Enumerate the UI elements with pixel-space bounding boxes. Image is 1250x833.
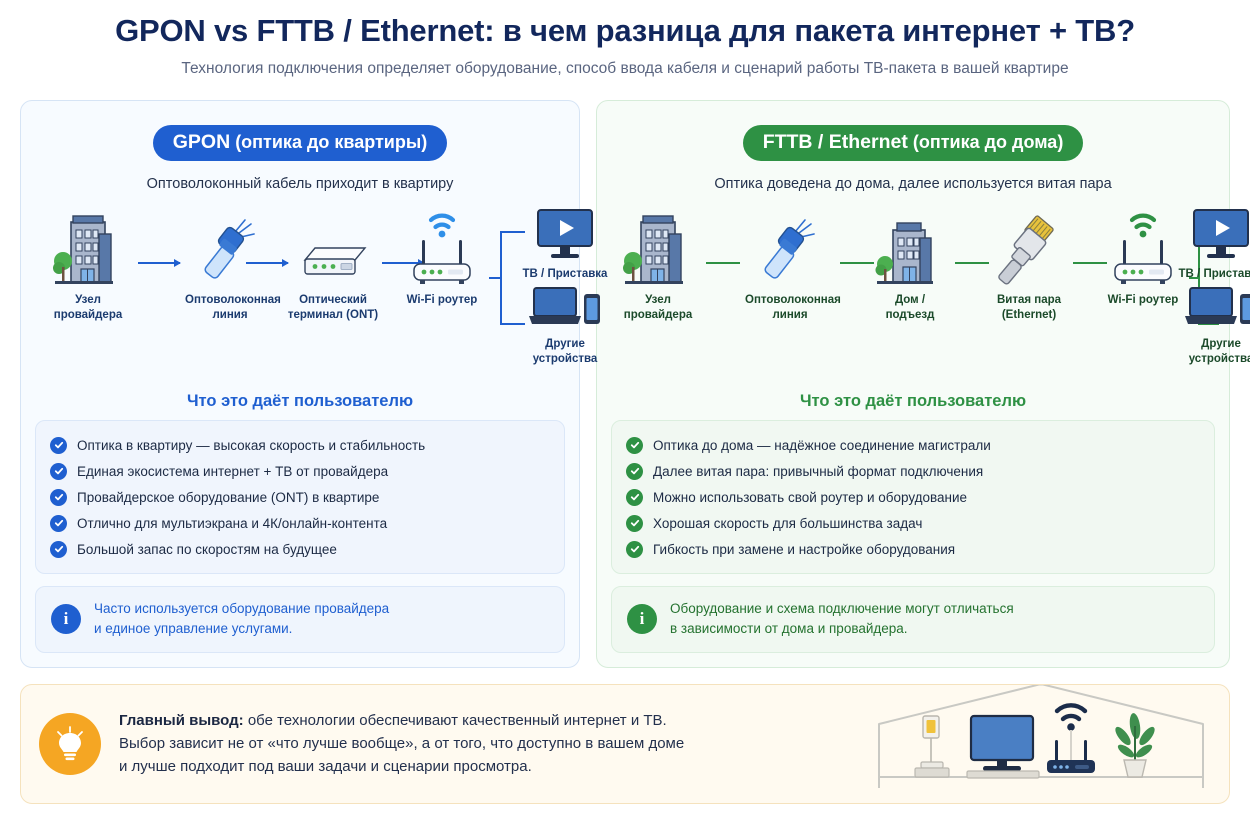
house-interior-icon bbox=[871, 684, 1211, 797]
list-item-label: Гибкость при замене и настройке оборудов… bbox=[653, 542, 955, 557]
list-item-label: Большой запас по скоростям на будущее bbox=[77, 542, 337, 557]
fttb-node-house-label: Дом / подъезд bbox=[867, 293, 953, 322]
fttb-node-house: Дом / подъезд bbox=[867, 210, 953, 322]
ont-terminal-icon bbox=[287, 210, 379, 288]
check-icon bbox=[626, 437, 643, 454]
check-icon bbox=[626, 541, 643, 558]
gpon-subtitle: Оптоволоконный кабель приходит в квартир… bbox=[35, 176, 565, 192]
comparison-columns: GPON (оптика до квартиры) Оптоволоконный… bbox=[0, 78, 1250, 668]
office-building-icon bbox=[615, 210, 701, 288]
gpon-node-router-label: Wi-Fi роутер bbox=[392, 293, 492, 308]
gpon-panel: GPON (оптика до квартиры) Оптоволоконный… bbox=[20, 100, 580, 668]
gpon-flow-diagram: Узел провайдера bbox=[35, 206, 565, 384]
list-item: Провайдерское оборудование (ONT) в кварт… bbox=[50, 484, 550, 510]
list-item: Оптика в квартиру — высокая скорость и с… bbox=[50, 432, 550, 458]
list-item-label: Единая экосистема интернет + ТВ от прова… bbox=[77, 464, 388, 479]
gpon-endpoint-tv-label: ТВ / Приставка bbox=[519, 267, 611, 282]
laptop-phone-icon bbox=[1171, 282, 1250, 334]
wifi-router-icon bbox=[392, 206, 492, 288]
check-icon bbox=[50, 489, 67, 506]
info-icon: i bbox=[51, 604, 81, 634]
conclusion-line-2: Выбор зависит не от «что лучше вообще», … bbox=[119, 732, 684, 755]
fttb-benefits-list: Оптика до дома — надёжное соединение маг… bbox=[611, 420, 1215, 574]
gpon-benefits-list: Оптика в квартиру — высокая скорость и с… bbox=[35, 420, 565, 574]
conclusion-text: Главный вывод: обе технологии обеспечива… bbox=[119, 709, 684, 779]
list-item-label: Провайдерское оборудование (ONT) в кварт… bbox=[77, 490, 379, 505]
gpon-benefits-title: Что это даёт пользователю bbox=[35, 392, 565, 411]
page-title: GPON vs FTTB / Ethernet: в чем разница д… bbox=[0, 14, 1250, 49]
conclusion-lead: Главный вывод: bbox=[119, 712, 244, 729]
list-item: Оптика до дома — надёжное соединение маг… bbox=[626, 432, 1200, 458]
list-item: Гибкость при замене и настройке оборудов… bbox=[626, 536, 1200, 562]
list-item: Отлично для мультиэкрана и 4К/онлайн-кон… bbox=[50, 510, 550, 536]
check-icon bbox=[50, 437, 67, 454]
list-item-label: Отлично для мультиэкрана и 4К/онлайн-кон… bbox=[77, 516, 387, 531]
check-icon bbox=[50, 541, 67, 558]
fttb-node-twisted-pair: Витая пара (Ethernet) bbox=[985, 210, 1073, 322]
list-item-label: Оптика в квартиру — высокая скорость и с… bbox=[77, 438, 425, 453]
fttb-node-provider-label: Узел провайдера bbox=[615, 293, 701, 322]
gpon-node-fiber-label: Оптоволоконная линия bbox=[185, 293, 275, 322]
check-icon bbox=[626, 515, 643, 532]
gpon-connector-1 bbox=[138, 262, 180, 264]
gpon-endpoint-devices-label: Другие устройства bbox=[519, 337, 611, 366]
fttb-node-fiber: Оптоволоконная линия bbox=[745, 210, 835, 322]
infographic-page: GPON vs FTTB / Ethernet: в чем разница д… bbox=[0, 0, 1250, 833]
gpon-badge: GPON (оптика до квартиры) bbox=[153, 125, 447, 162]
fttb-badge-strong: FTTB / Ethernet bbox=[763, 131, 908, 153]
list-item-label: Далее витая пара: привычный формат подкл… bbox=[653, 464, 983, 479]
lightbulb-icon bbox=[39, 713, 101, 775]
list-item: Единая экосистема интернет + ТВ от прова… bbox=[50, 458, 550, 484]
fttb-endpoint-tv-label: ТВ / Приставка bbox=[1171, 267, 1250, 282]
list-item: Далее витая пара: привычный формат подкл… bbox=[626, 458, 1200, 484]
conclusion-line-1: Главный вывод: обе технологии обеспечива… bbox=[119, 709, 684, 732]
check-icon bbox=[50, 515, 67, 532]
list-item-label: Хорошая скорость для большинства задач bbox=[653, 516, 922, 531]
fttb-badge: FTTB / Ethernet (оптика до дома) bbox=[743, 125, 1084, 162]
gpon-connector-2 bbox=[246, 262, 288, 264]
gpon-node-ont: Оптический терминал (ONT) bbox=[287, 210, 379, 322]
page-header: GPON vs FTTB / Ethernet: в чем разница д… bbox=[0, 0, 1250, 78]
rj45-connector-icon bbox=[985, 210, 1073, 288]
page-subtitle: Технология подключения определяет оборуд… bbox=[0, 60, 1250, 78]
gpon-endpoint-tv: ТВ / Приставка bbox=[519, 206, 611, 282]
gpon-badge-strong: GPON bbox=[173, 131, 230, 153]
conclusion-line-3: и лучше подходит под ваши задачи и сцена… bbox=[119, 755, 684, 778]
list-item: Большой запас по скоростям на будущее bbox=[50, 536, 550, 562]
house-building-icon bbox=[867, 210, 953, 288]
tv-screen-icon bbox=[1171, 206, 1250, 264]
fttb-note: i Оборудование и схема подключение могут… bbox=[611, 586, 1215, 653]
check-icon bbox=[50, 463, 67, 480]
gpon-node-router: Wi-Fi роутер bbox=[392, 206, 492, 308]
fttb-badge-light: (оптика до дома) bbox=[908, 132, 1063, 152]
gpon-badge-light: (оптика до квартиры) bbox=[230, 132, 427, 152]
fttb-endpoint-tv: ТВ / Приставка bbox=[1171, 206, 1250, 282]
fttb-endpoint-devices-label: Другие устройства bbox=[1171, 337, 1250, 366]
fttb-connector-3 bbox=[955, 262, 989, 264]
list-item-label: Можно использовать свой роутер и оборудо… bbox=[653, 490, 967, 505]
list-item: Можно использовать свой роутер и оборудо… bbox=[626, 484, 1200, 510]
fttb-panel: FTTB / Ethernet (оптика до дома) Оптика … bbox=[596, 100, 1230, 668]
fttb-node-fiber-label: Оптоволоконная линия bbox=[745, 293, 835, 322]
fttb-flow-diagram: Узел провайдера bbox=[611, 206, 1215, 384]
fttb-endpoint-devices: Другие устройства bbox=[1171, 282, 1250, 366]
gpon-note-text: Часто используется оборудование провайде… bbox=[94, 599, 389, 640]
check-icon bbox=[626, 463, 643, 480]
conclusion-banner: Главный вывод: обе технологии обеспечива… bbox=[20, 684, 1230, 804]
fttb-subtitle: Оптика доведена до дома, далее используе… bbox=[611, 176, 1215, 192]
gpon-node-ont-label: Оптический терминал (ONT) bbox=[287, 293, 379, 322]
fttb-benefits-title: Что это даёт пользователю bbox=[611, 392, 1215, 411]
fiber-optic-cable-icon bbox=[745, 210, 835, 288]
fttb-note-text: Оборудование и схема подключение могут о… bbox=[670, 599, 1014, 640]
gpon-node-fiber: Оптоволоконная линия bbox=[185, 210, 275, 322]
tv-screen-icon bbox=[519, 206, 611, 264]
fttb-connector-1 bbox=[706, 262, 740, 264]
fttb-node-twisted-pair-label: Витая пара (Ethernet) bbox=[985, 293, 1073, 322]
fiber-optic-cable-icon bbox=[185, 210, 275, 288]
gpon-endpoint-devices: Другие устройства bbox=[519, 282, 611, 366]
gpon-node-provider: Узел провайдера bbox=[45, 210, 131, 322]
gpon-node-provider-label: Узел провайдера bbox=[45, 293, 131, 322]
check-icon bbox=[626, 489, 643, 506]
fttb-node-provider: Узел провайдера bbox=[615, 210, 701, 322]
info-icon: i bbox=[627, 604, 657, 634]
gpon-note: i Часто используется оборудование провай… bbox=[35, 586, 565, 653]
conclusion-line-1-rest: обе технологии обеспечивают качественный… bbox=[244, 712, 667, 729]
office-building-icon bbox=[45, 210, 131, 288]
list-item-label: Оптика до дома — надёжное соединение маг… bbox=[653, 438, 991, 453]
list-item: Хорошая скорость для большинства задач bbox=[626, 510, 1200, 536]
laptop-phone-icon bbox=[519, 282, 611, 334]
